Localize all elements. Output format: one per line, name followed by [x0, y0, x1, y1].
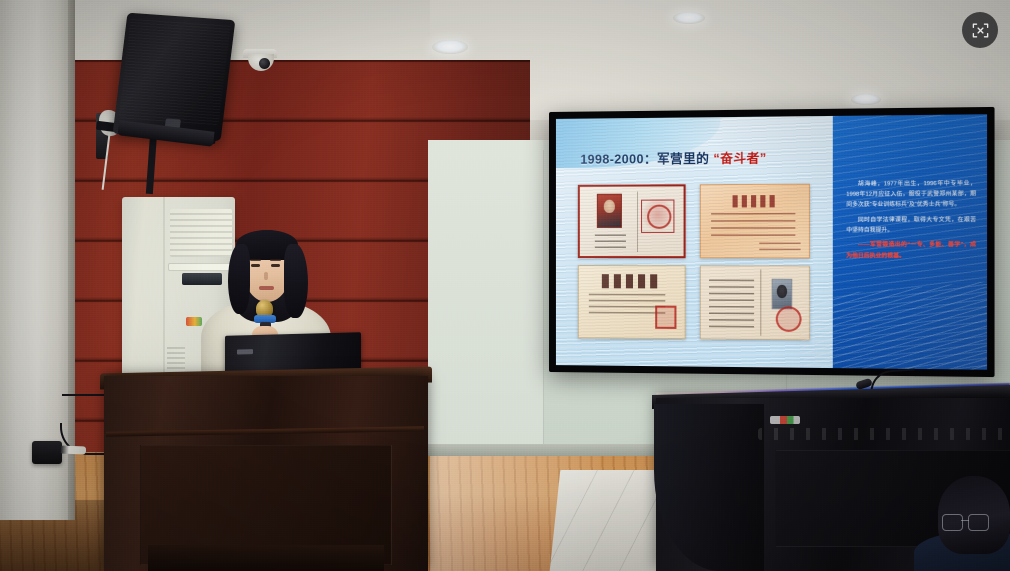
document-honor-certificate — [578, 266, 686, 340]
eyeglasses-lens-left — [942, 514, 963, 531]
audience-member — [930, 470, 1010, 571]
slide-document-grid — [578, 184, 810, 340]
graduation-fold-line — [760, 270, 761, 336]
graduation-body-lines — [709, 277, 754, 327]
lectern-base — [148, 545, 384, 571]
slide-paragraph-1: 胡海峰，1977年出生，1996年中专毕业，1998年12月应征入伍，服役于武警… — [846, 178, 976, 211]
cctv-lens — [259, 58, 270, 69]
slide-paragraph-2: 同时自学法律课程，取得大专文凭，在艰苦中坚持自我提升。 — [846, 215, 976, 237]
honor-certificate-stamp-icon — [655, 305, 676, 329]
document-graduation-certificate — [700, 266, 810, 340]
ceiling-downlight-icon — [673, 12, 705, 24]
ac-panel-seam — [163, 197, 165, 389]
honor-certificate-heading — [602, 274, 661, 288]
document-military-id-certificate — [578, 185, 686, 258]
presenter-nose — [264, 272, 268, 280]
eyeglasses-bridge — [961, 520, 969, 521]
presenter-hair-left — [228, 244, 250, 314]
console-brand-badge-icon — [770, 416, 800, 424]
slide-right-blue-panel: 胡海峰，1977年出生，1996年中专毕业，1998年12月应征入伍，服役于武警… — [832, 114, 987, 369]
console-button-strip[interactable] — [758, 428, 1010, 440]
presenter-eyebrow-right — [270, 259, 281, 261]
slide-left-panel: 1998-2000：军营里的 “奋斗者” — [556, 116, 833, 368]
slide-title-accent: “奋斗者” — [713, 151, 766, 166]
slide-quote: ——军营锻造出的“一专、多能、善学”，成为他日后执业的根基。 — [846, 240, 976, 261]
slide-body-text: 胡海峰，1977年出生，1996年中专毕业，1998年12月应征入伍，服役于武警… — [846, 178, 976, 266]
ceiling-downlight-icon — [851, 94, 881, 105]
eyeglasses-lens-right — [968, 514, 989, 531]
certificate-fold-line — [637, 191, 638, 252]
wall-corner-seam — [543, 150, 544, 470]
eyeglasses-icon — [942, 514, 988, 530]
ceiling-downlight-icon — [432, 40, 468, 54]
presenter-mouth — [259, 286, 274, 290]
laptop-logo-icon — [237, 349, 253, 354]
commendation-body-lines — [711, 213, 795, 236]
honor-certificate-body-lines — [589, 293, 665, 313]
microphone-plug — [60, 446, 86, 455]
led-video-wall[interactable]: 1998-2000：军营里的 “奋斗者” — [549, 107, 995, 377]
presenter-hair-right — [284, 244, 308, 318]
graduation-stamp-icon — [775, 306, 801, 332]
presenter-eye-left — [251, 264, 260, 267]
presenter-eyebrow-left — [250, 259, 261, 261]
speaker-grille — [119, 18, 231, 125]
certificate-text-lines — [595, 233, 626, 248]
floor-reflection — [430, 452, 600, 571]
presentation-slide: 1998-2000：军营里的 “奋斗者” — [556, 114, 987, 369]
screen-display-area: 1998-2000：军营里的 “奋斗者” — [556, 114, 987, 369]
fullscreen-expand-icon — [971, 21, 990, 40]
ac-energy-label — [186, 317, 202, 326]
slide-title-main: 军营里的 — [657, 151, 709, 166]
screenshot-root: 1998-2000：军营里的 “奋斗者” — [0, 0, 1010, 571]
document-commendation-letter — [700, 184, 810, 258]
wall-outlet — [32, 441, 62, 464]
certificate-red-seal-icon — [641, 199, 674, 233]
graduation-portrait-photo — [772, 278, 793, 309]
fullscreen-button[interactable] — [962, 12, 998, 48]
presenter-eye-right — [271, 264, 280, 267]
commendation-signature-lines — [759, 240, 800, 250]
commendation-heading — [733, 195, 776, 207]
slide-title-year: 1998-2000： — [580, 152, 657, 167]
slide-title: 1998-2000：军营里的 “奋斗者” — [580, 147, 766, 168]
certificate-portrait-photo — [597, 194, 622, 228]
